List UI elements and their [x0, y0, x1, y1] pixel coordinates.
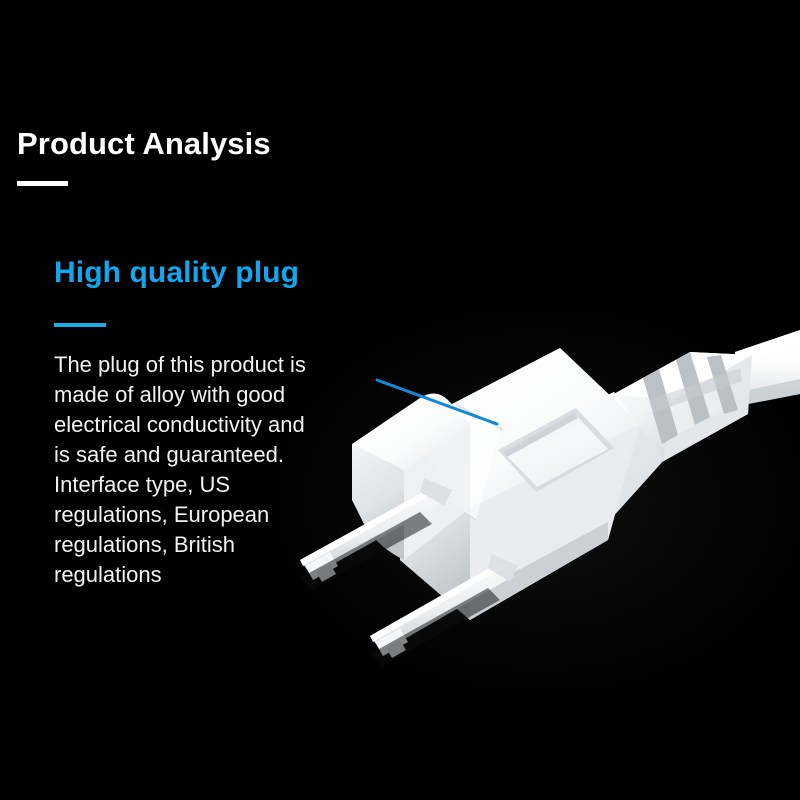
- feature-description: The plug of this product is made of allo…: [54, 350, 322, 590]
- subtitle-underline-rule: [54, 323, 106, 327]
- feature-subtitle: High quality plug: [54, 256, 299, 290]
- product-analysis-banner: Product Analysis High quality plug The p…: [0, 0, 800, 800]
- title-underline-rule: [17, 181, 68, 186]
- page-title: Product Analysis: [17, 126, 271, 162]
